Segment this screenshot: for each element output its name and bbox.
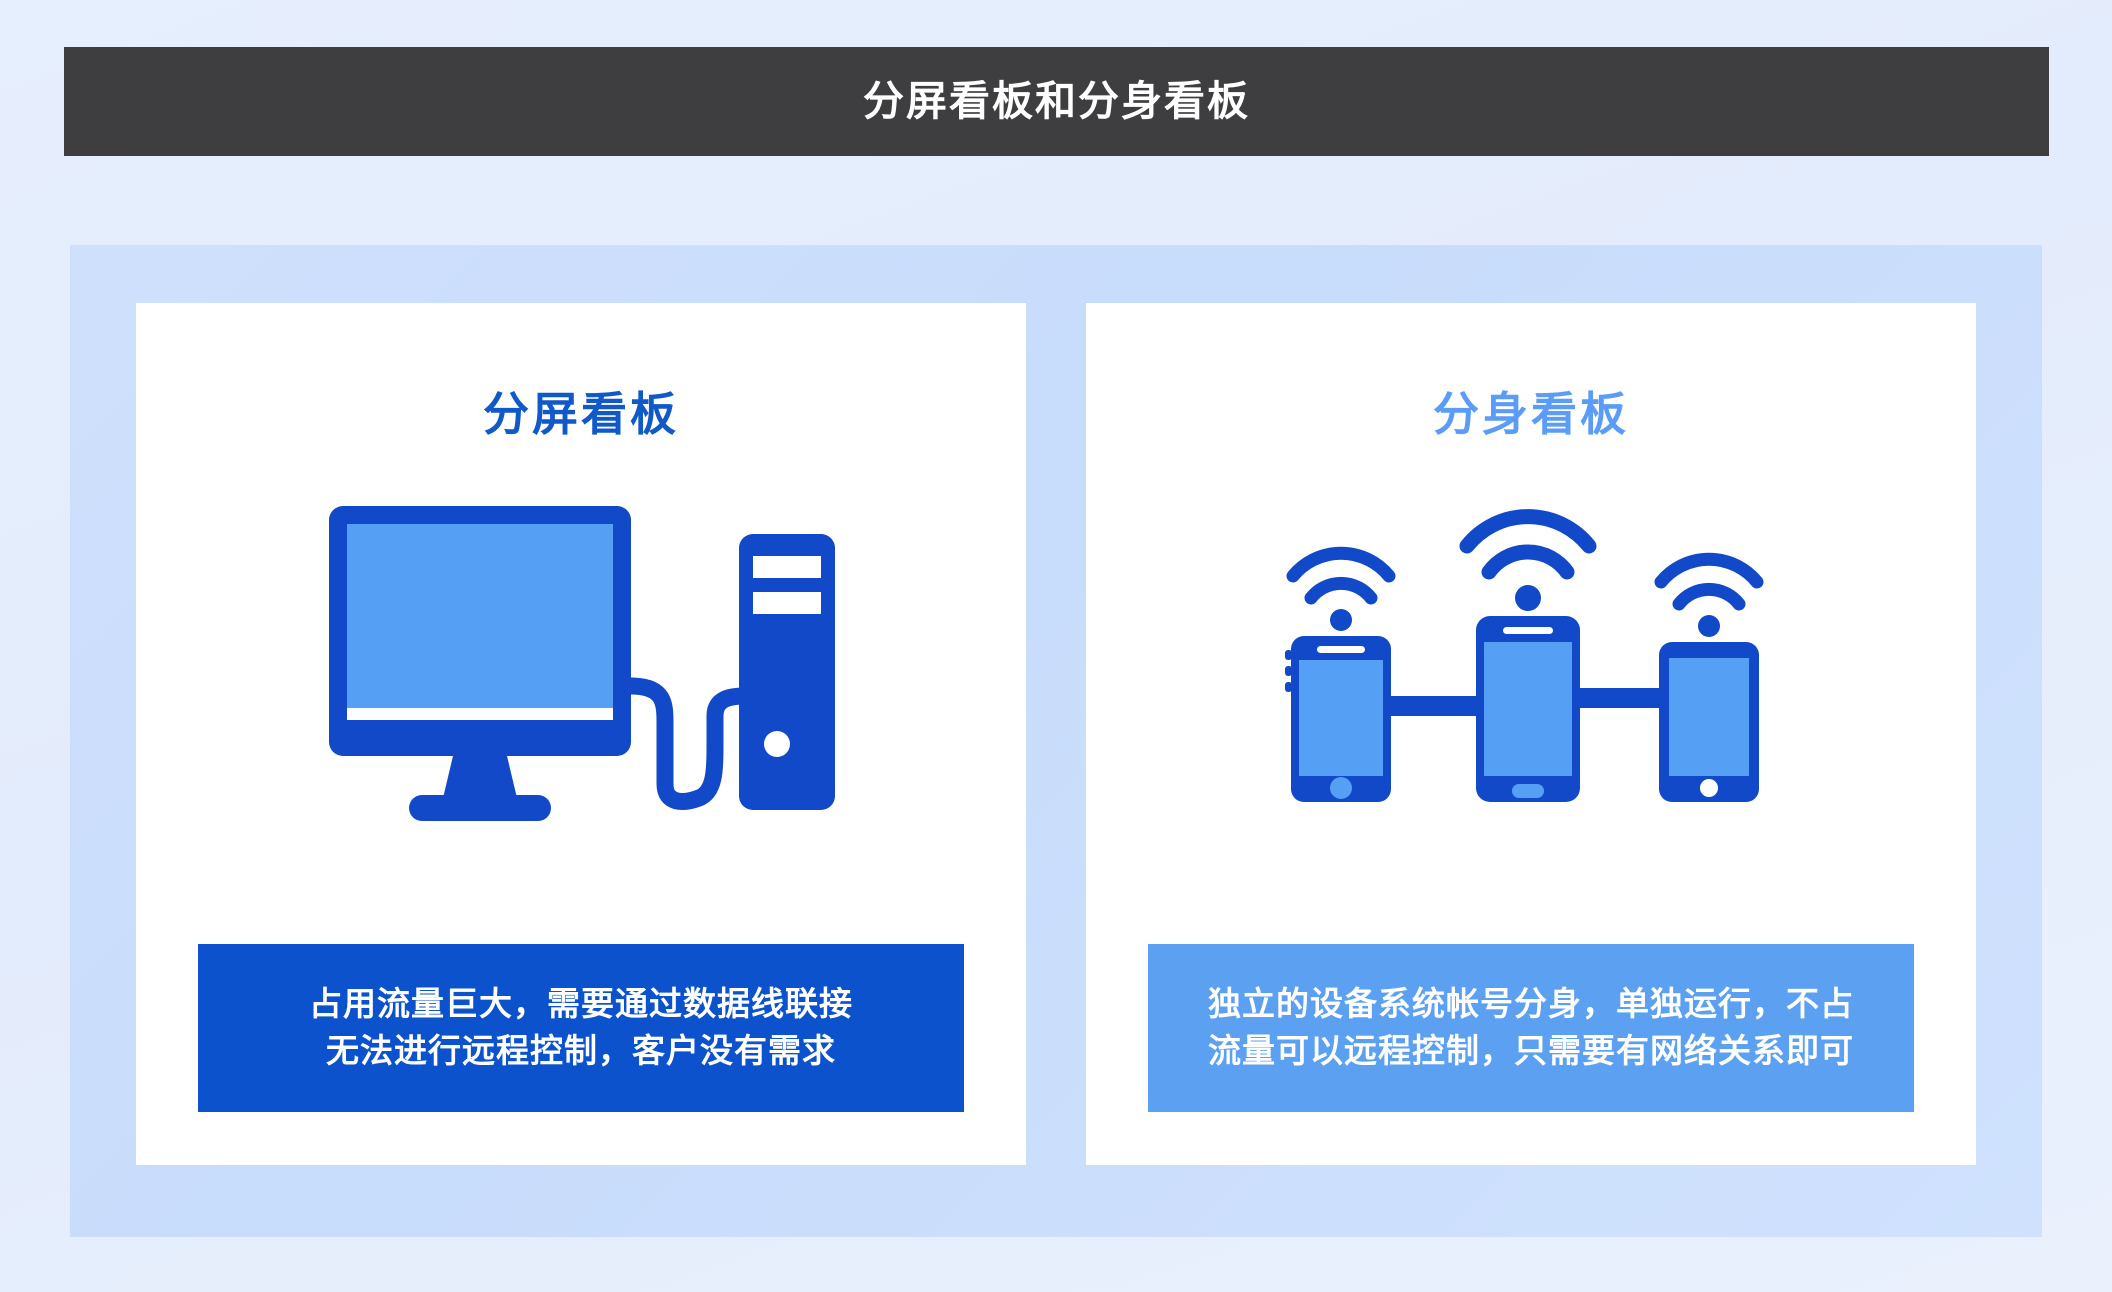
header-bar: 分屏看板和分身看板: [64, 47, 2049, 156]
card-split-screen[interactable]: 分屏看板 占用流量巨: [136, 303, 1026, 1165]
slide-root: 分屏看板和分身看板 分屏看板: [0, 0, 2112, 1292]
caption-line: 无法进行远程控制，客户没有需求: [326, 1028, 836, 1075]
page-title: 分屏看板和分身看板: [863, 81, 1250, 122]
caption-line: 独立的设备系统帐号分身，单独运行，不占: [1208, 981, 1854, 1028]
desktop-computer-icon: [321, 498, 841, 828]
caption-line: 占用流量巨大，需要通过数据线联接: [309, 981, 853, 1028]
caption-box-right: 独立的设备系统帐号分身，单独运行，不占 流量可以远程控制，只需要有网络关系即可: [1148, 944, 1914, 1112]
illustration-three-phones: [1086, 498, 1976, 898]
three-phones-wifi-icon: [1271, 498, 1791, 828]
illustration-desktop-computer: [136, 498, 1026, 898]
phone-left-icon: [1285, 553, 1391, 802]
phone-right-icon: [1659, 559, 1759, 802]
caption-box-left: 占用流量巨大，需要通过数据线联接 无法进行远程控制，客户没有需求: [198, 944, 964, 1112]
card-clone-screen[interactable]: 分身看板: [1086, 303, 1976, 1165]
phone-center-icon: [1467, 517, 1589, 802]
caption-line: 流量可以远程控制，只需要有网络关系即可: [1208, 1028, 1854, 1075]
card-title-right: 分身看板: [1086, 391, 1976, 437]
card-title-left: 分屏看板: [136, 391, 1026, 437]
